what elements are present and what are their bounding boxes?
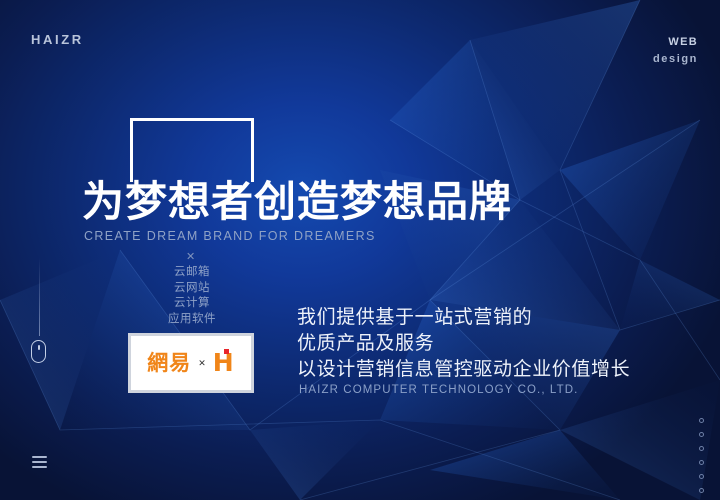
- copy-line-3: 以设计营销信息管控驱动企业价值增长: [297, 356, 630, 382]
- bracket-frame-decoration: [130, 118, 254, 182]
- page-subtitle: CREATE DREAM BRAND FOR DREAMERS: [84, 229, 376, 243]
- pagination-dot-5[interactable]: [699, 474, 704, 479]
- hamburger-bar-2: [32, 461, 47, 463]
- pagination-dots[interactable]: [699, 418, 704, 493]
- partner-logo-box[interactable]: 網易 ✕ H: [128, 333, 254, 393]
- value-proposition-copy: 我们提供基于一站式营销的 优质产品及服务 以设计营销信息管控驱动企业价值增长: [297, 304, 630, 382]
- polygon-background-decoration: [0, 0, 720, 500]
- pagination-dot-3[interactable]: [699, 446, 704, 451]
- nav-item-cloud-website[interactable]: 云网站: [150, 280, 234, 296]
- service-nav-list: 云邮箱 云网站 云计算 应用软件: [150, 264, 234, 326]
- web-label: WEB: [653, 34, 698, 51]
- red-dot-accent: [224, 349, 229, 354]
- pagination-dot-4[interactable]: [699, 460, 704, 465]
- brand-logo[interactable]: HAIZR: [31, 32, 84, 47]
- hamburger-bar-3: [32, 466, 47, 468]
- company-name-en: HAIZR COMPUTER TECHNOLOGY CO., LTD.: [299, 384, 578, 396]
- web-design-label: WEB design: [653, 34, 698, 68]
- mouse-scroll-icon[interactable]: [31, 340, 46, 363]
- haizr-mark-icon: H: [213, 350, 235, 376]
- pagination-dot-6[interactable]: [699, 488, 704, 493]
- multiply-icon: ✕: [198, 358, 206, 369]
- pagination-dot-2[interactable]: [699, 432, 704, 437]
- cross-separator-icon: ✕: [186, 252, 195, 262]
- nav-item-cloud-compute[interactable]: 云计算: [150, 295, 234, 311]
- copy-line-1: 我们提供基于一站式营销的: [297, 304, 630, 330]
- page-title: 为梦想者创造梦想品牌: [82, 180, 512, 224]
- design-label: design: [653, 51, 698, 68]
- hamburger-bar-1: [32, 456, 47, 458]
- scroll-rail-line: [39, 258, 40, 336]
- copy-line-2: 优质产品及服务: [297, 330, 630, 356]
- mouse-wheel-dot: [38, 345, 40, 350]
- netease-logo-text: 網易: [147, 352, 191, 374]
- hamburger-menu-icon[interactable]: [32, 456, 47, 468]
- pagination-dot-1[interactable]: [699, 418, 704, 423]
- nav-item-cloud-mail[interactable]: 云邮箱: [150, 264, 234, 280]
- hero-banner: HAIZR WEB design 为梦想者创造梦想品牌 CREATE DREAM…: [0, 0, 720, 500]
- nav-item-app-software[interactable]: 应用软件: [150, 311, 234, 327]
